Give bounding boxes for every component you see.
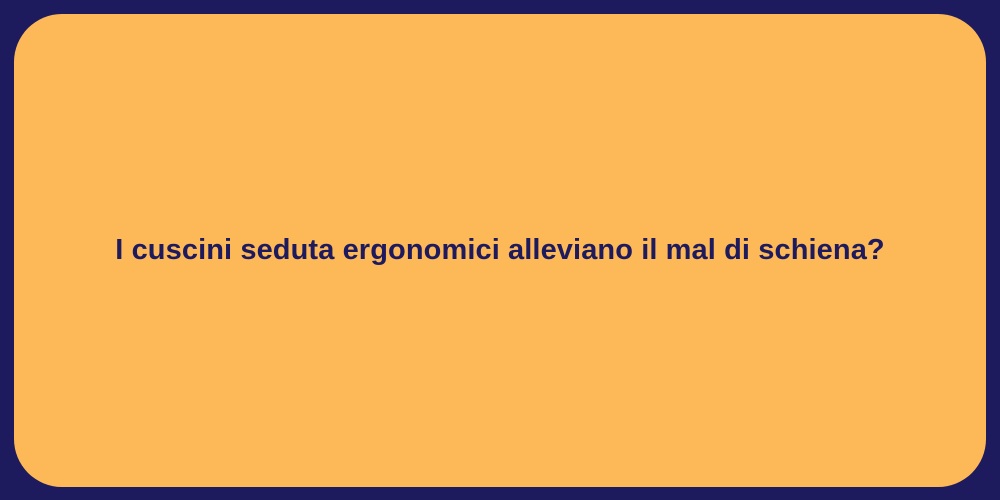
- banner-frame: I cuscini seduta ergonomici alleviano il…: [0, 0, 1000, 500]
- banner-title: I cuscini seduta ergonomici alleviano il…: [55, 232, 945, 268]
- banner-card: I cuscini seduta ergonomici alleviano il…: [14, 14, 986, 487]
